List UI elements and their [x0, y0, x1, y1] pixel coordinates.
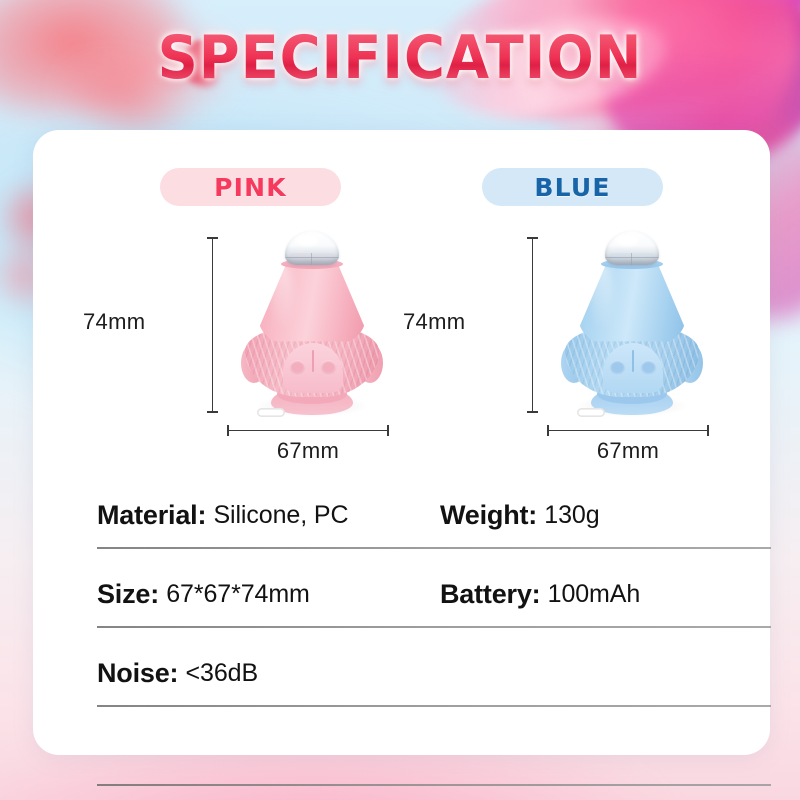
spec-row-noise: Noise : <36dB — [59, 643, 744, 722]
spec-divider — [97, 784, 771, 786]
spec-label-material: Material — [97, 500, 197, 531]
width-dimension-label-pink: 67mm — [227, 438, 389, 464]
cone-highlight — [271, 259, 293, 331]
spec-divider — [97, 626, 771, 628]
spec-cell-noise: Noise : <36dB — [97, 643, 258, 703]
usb-c-port-icon — [577, 408, 605, 417]
control-button-left-icon — [610, 360, 625, 373]
control-button-left-icon — [290, 360, 305, 373]
spec-value-noise: <36dB — [186, 659, 259, 688]
spec-separator: : — [197, 500, 206, 531]
spec-separator: : — [528, 500, 537, 531]
control-button-right-icon — [641, 360, 656, 373]
variant-badge-pink[interactable]: PINK — [160, 168, 341, 206]
spec-separator: : — [532, 579, 541, 610]
spec-row-material: Material : Silicone, PC Weight : 130g — [59, 485, 744, 564]
clear-dome-top — [605, 231, 659, 265]
spec-label-noise: Noise — [97, 658, 170, 689]
spec-cell-material: Material : Silicone, PC — [97, 485, 348, 545]
product-image-pink — [241, 231, 383, 423]
height-dimension-label-pink: 74mm — [83, 309, 145, 335]
spec-label-weight: Weight — [440, 500, 528, 531]
spec-separator: : — [150, 579, 159, 610]
width-dimension-line-blue — [547, 430, 709, 431]
product-panel-blue: 74mm 67mm — [395, 225, 725, 470]
specification-table: Material : Silicone, PC Weight : 130g Si… — [59, 485, 744, 722]
height-dimension-line-pink — [212, 237, 213, 413]
spec-cell-battery: Battery : 100mAh — [440, 564, 640, 624]
spec-value-battery: 100mAh — [548, 580, 641, 609]
spec-separator: : — [170, 658, 179, 689]
spec-value-weight: 130g — [544, 501, 599, 530]
clear-dome-top — [285, 231, 339, 265]
variant-badge-blue-label: BLUE — [534, 173, 610, 202]
spec-label-size: Size — [97, 579, 150, 610]
control-button-right-icon — [321, 360, 336, 373]
faceplate-divider — [312, 350, 314, 372]
width-dimension-label-blue: 67mm — [547, 438, 709, 464]
spec-divider — [97, 705, 771, 707]
spec-cell-weight: Weight : 130g — [440, 485, 600, 545]
variant-badge-pink-label: PINK — [214, 173, 287, 202]
cone-highlight — [591, 259, 613, 331]
page-title: SPECIFICATION — [28, 28, 772, 88]
width-dimension-line-pink — [227, 430, 389, 431]
height-dimension-line-blue — [532, 237, 533, 413]
height-dimension-label-blue: 74mm — [403, 309, 465, 335]
product-panel-pink: 74mm 67mm — [75, 225, 405, 470]
spec-label-battery: Battery — [440, 579, 532, 610]
specification-card: PINK BLUE 74mm — [33, 130, 770, 755]
spec-row-size: Size : 67*67*74mm Battery : 100mAh — [59, 564, 744, 643]
product-image-blue — [561, 231, 703, 423]
spec-cell-size: Size : 67*67*74mm — [97, 564, 310, 624]
variant-badge-blue[interactable]: BLUE — [482, 168, 663, 206]
usb-c-port-icon — [257, 408, 285, 417]
spec-divider — [97, 547, 771, 549]
spec-value-size: 67*67*74mm — [166, 580, 310, 609]
faceplate-divider — [632, 350, 634, 372]
spec-value-material: Silicone, PC — [213, 501, 348, 530]
variant-badges: PINK BLUE — [33, 168, 770, 208]
